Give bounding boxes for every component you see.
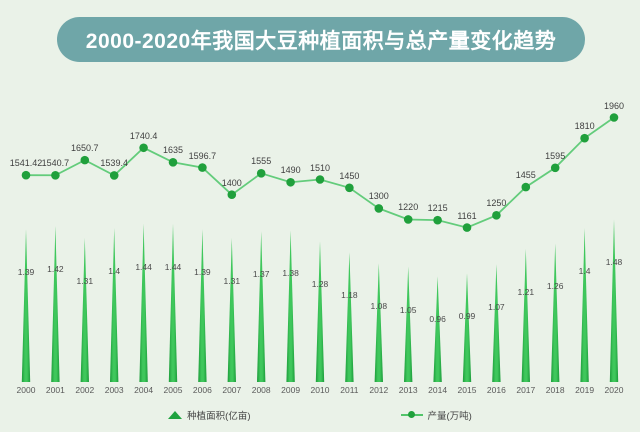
x-axis-tick-labels: 2000200120022003200420052006200720082009… [0,382,640,402]
area-spike [404,267,412,383]
x-axis-tick: 2012 [369,385,388,395]
line-dot-marker-icon [401,410,423,420]
area-spike [610,219,618,382]
area-value-label: 1.4 [108,266,120,276]
area-value-label: 0.99 [459,311,476,321]
x-axis-tick: 2015 [458,385,477,395]
production-value-label: 1300 [369,191,389,201]
legend-label-production: 产量(万吨) [428,408,472,422]
production-value-label: 1635 [163,145,183,155]
area-value-label: 1.37 [253,269,270,279]
area-value-label: 0.96 [429,314,446,324]
area-spike-series [22,219,618,382]
area-spike [551,243,559,382]
production-point [522,183,531,192]
legend-item-production[interactable]: 产量(万吨) [401,408,472,422]
production-value-label: 1455 [516,170,536,180]
triangle-marker-icon [168,411,182,419]
production-value-label: 1740.4 [130,131,158,141]
area-spike [228,238,236,382]
x-axis-tick: 2001 [46,385,65,395]
area-spike [110,228,118,382]
area-spike [375,263,383,382]
production-point [286,178,295,187]
area-value-label: 1.44 [165,262,182,272]
area-value-label: 1.31 [224,276,241,286]
area-value-label: 1.18 [341,290,358,300]
area-spike [463,273,471,382]
production-value-label: 1810 [575,121,595,131]
production-point [257,169,266,178]
x-axis-tick: 2000 [17,385,36,395]
x-axis-tick: 2005 [164,385,183,395]
production-value-label: 1960 [604,101,624,111]
production-point [404,215,413,224]
legend-item-area[interactable]: 种植面积(亿亩) [168,408,250,422]
area-spike [139,224,147,382]
production-point [22,171,31,180]
area-spike [51,226,59,382]
x-axis-tick: 2009 [281,385,300,395]
x-axis-tick: 2011 [340,385,358,395]
production-value-label: 1215 [428,203,448,213]
area-value-label: 1.42 [47,264,64,274]
production-value-label: 1596.7 [189,151,217,161]
production-point [139,143,148,152]
chart-plot-area: 1.391.421.311.41.441.441.391.311.371.381… [0,70,640,382]
area-spike [286,230,294,382]
production-value-label: 1510 [310,163,330,173]
area-value-label: 1.48 [606,257,623,267]
area-spike [580,228,588,382]
area-value-label: 1.08 [371,301,388,311]
area-spike [345,252,353,382]
production-value-label: 1490 [281,165,301,175]
production-value-label: 1450 [339,171,359,181]
production-point [110,171,119,180]
production-point [580,134,589,143]
production-value-label: 1161 [457,211,476,221]
production-point [551,164,560,173]
area-spike [169,224,177,382]
production-point [433,216,442,225]
area-spike [257,231,265,382]
x-axis-tick: 2008 [252,385,271,395]
area-value-label: 1.07 [488,302,505,312]
x-axis-tick: 2004 [134,385,153,395]
area-spike [198,229,206,382]
production-value-label: 1250 [486,198,506,208]
x-axis-tick: 2016 [487,385,506,395]
production-point [316,175,325,184]
x-axis-tick: 2002 [75,385,94,395]
production-point [375,204,384,213]
chart-svg [0,70,640,382]
x-axis-tick: 2020 [605,385,624,395]
area-spike [492,264,500,382]
production-point [492,211,501,220]
production-value-label: 1595 [545,151,565,161]
production-point [81,156,90,165]
area-value-label: 1.38 [282,268,299,278]
x-axis-tick: 2003 [105,385,124,395]
area-value-label: 1.28 [312,279,329,289]
area-value-label: 1.4 [579,266,591,276]
production-point [610,113,619,122]
x-axis-tick: 2006 [193,385,212,395]
area-spike [22,229,30,382]
x-axis-tick: 2018 [546,385,565,395]
production-point [198,163,207,172]
production-point [51,171,60,180]
area-spike [522,249,530,382]
area-spike [316,241,324,382]
area-value-label: 1.39 [194,267,211,277]
chart-legend: 种植面积(亿亩) 产量(万吨) [0,404,640,426]
x-axis-tick: 2019 [575,385,594,395]
area-value-label: 1.44 [135,262,152,272]
area-value-label: 1.05 [400,305,417,315]
area-spike [81,238,89,382]
production-point [463,223,472,232]
x-axis-tick: 2010 [311,385,330,395]
area-value-label: 1.21 [518,287,535,297]
area-spike [433,276,441,382]
production-value-label: 1541.42 [10,158,43,168]
production-value-label: 1650.7 [71,143,99,153]
production-value-label: 1400 [222,178,242,188]
x-axis-tick: 2014 [428,385,447,395]
area-value-label: 1.26 [547,281,564,291]
production-point [169,158,178,167]
production-value-label: 1555 [251,156,271,166]
area-value-label: 1.39 [18,267,35,277]
production-value-label: 1540.7 [42,158,70,168]
production-value-label: 1539.4 [100,158,128,168]
production-value-label: 1220 [398,202,418,212]
x-axis-tick: 2007 [222,385,241,395]
production-point [345,183,354,192]
x-axis-tick: 2017 [516,385,535,395]
production-point [228,190,237,199]
area-value-label: 1.31 [77,276,94,286]
x-axis-tick: 2013 [399,385,418,395]
page-title: 2000-2020年我国大豆种植面积与总产量变化趋势 [86,25,556,55]
chart-title-banner: 2000-2020年我国大豆种植面积与总产量变化趋势 [57,17,585,62]
legend-label-area: 种植面积(亿亩) [187,408,250,422]
